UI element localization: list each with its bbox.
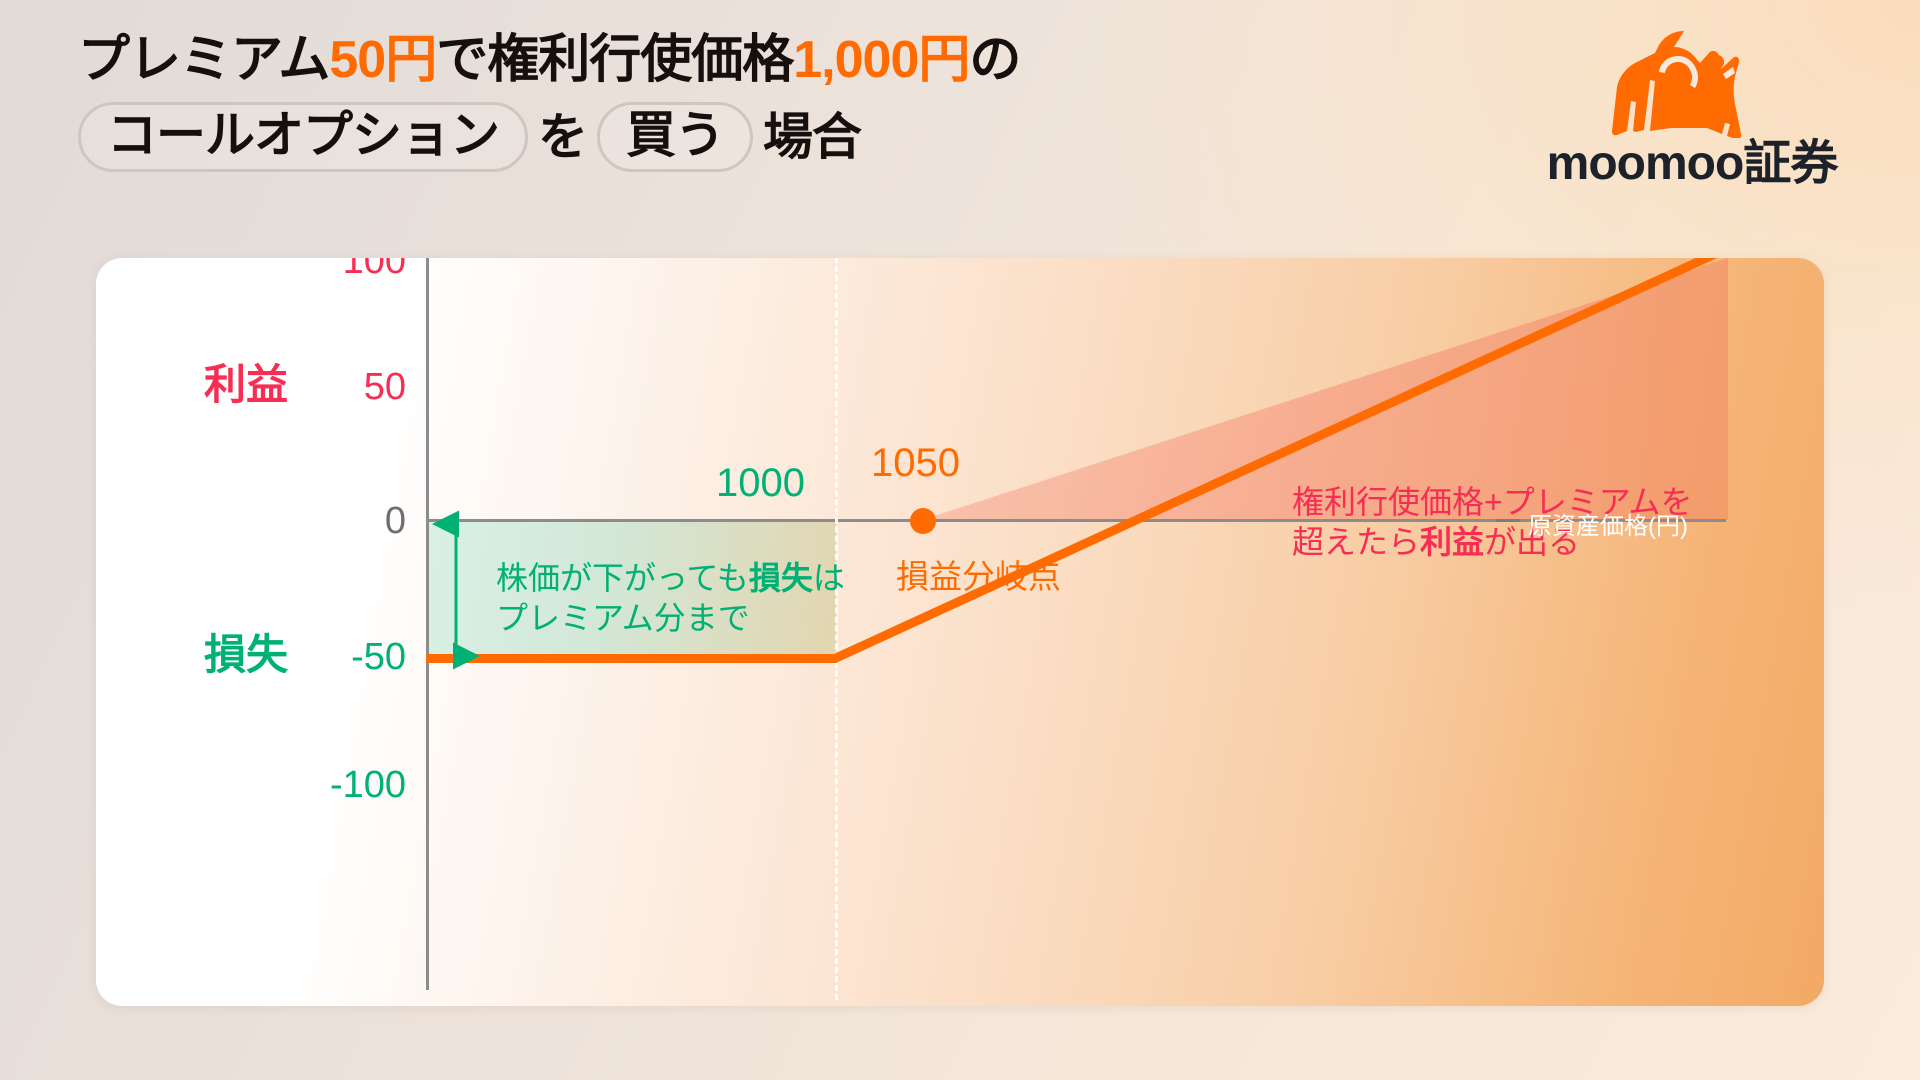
ytick-neg100: -100 bbox=[246, 766, 406, 804]
max-loss-note-b: は bbox=[813, 560, 845, 596]
payoff-plot: 100 50 0 -50 -100 利益 損失 1000 1050 損益分岐点 … bbox=[96, 258, 1824, 1006]
max-loss-note: 株価が下がっても損失は プレミアム分まで bbox=[496, 558, 845, 638]
max-loss-note-bold: 損失 bbox=[749, 560, 813, 596]
logo-wordmark: moomoo証券 bbox=[1522, 140, 1862, 188]
title-suffix: 場合 bbox=[763, 112, 861, 162]
page-title: プレミアム50円で権利行使価格1,000円の コールオプション を 買う 場合 bbox=[78, 34, 1020, 172]
title-connector: を bbox=[538, 112, 587, 162]
max-loss-note-a: 株価が下がっても bbox=[496, 560, 749, 596]
xtick-label-strike: 1000 bbox=[716, 463, 805, 503]
xtick-label-breakeven: 1050 bbox=[871, 443, 960, 483]
pill-action: 買う bbox=[597, 102, 753, 172]
x-axis-end-tick bbox=[1496, 519, 1520, 522]
axis-label-profit: 利益 bbox=[204, 364, 288, 406]
bull-icon bbox=[1522, 26, 1862, 138]
title-text-b: で権利行使価格 bbox=[436, 31, 793, 89]
title-text-a: プレミアム bbox=[78, 31, 329, 89]
title-line-1: プレミアム50円で権利行使価格1,000円の bbox=[78, 34, 1020, 86]
profit-note-bold: 利益 bbox=[1420, 524, 1484, 560]
breakeven-caption: 損益分岐点 bbox=[896, 550, 1061, 598]
x-axis-title: 原資産価格(円) bbox=[1528, 506, 1688, 541]
profit-note-a: 超えたら bbox=[1292, 524, 1420, 560]
brand-logo: moomoo証券 bbox=[1522, 26, 1862, 188]
max-loss-note-line1: 株価が下がっても損失は bbox=[496, 558, 845, 598]
pill-option-type: コールオプション bbox=[78, 102, 528, 172]
axis-label-loss: 損失 bbox=[204, 634, 288, 676]
title-strike-amount: 1,000円 bbox=[793, 31, 969, 89]
header: プレミアム50円で権利行使価格1,000円の コールオプション を 買う 場合 … bbox=[0, 0, 1920, 210]
max-loss-note-line2: プレミアム分まで bbox=[496, 598, 845, 638]
ytick-0: 0 bbox=[266, 502, 406, 540]
title-premium-amount: 50円 bbox=[329, 31, 436, 89]
title-line-2: コールオプション を 買う 場合 bbox=[78, 102, 1020, 172]
ytick-100: 100 bbox=[266, 258, 406, 280]
premium-span-arrow bbox=[446, 516, 486, 664]
breakeven-dot bbox=[910, 508, 936, 534]
title-text-c: の bbox=[969, 31, 1020, 89]
payoff-chart-card: 100 50 0 -50 -100 利益 損失 1000 1050 損益分岐点 … bbox=[96, 258, 1824, 1006]
